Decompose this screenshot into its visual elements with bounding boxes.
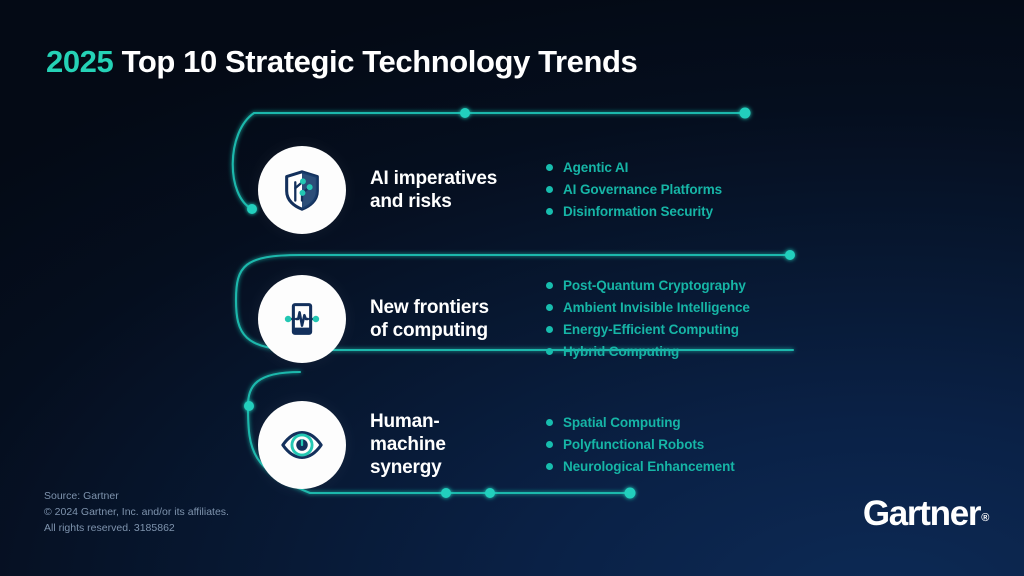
list-item[interactable]: Ambient Invisible Intelligence — [546, 297, 750, 319]
registered-mark-icon: ® — [981, 512, 988, 524]
shield-circuit-icon — [279, 167, 325, 213]
row-title-line: AI imperatives — [370, 167, 504, 190]
node-dot — [244, 401, 254, 411]
footer-attribution: Source: Gartner © 2024 Gartner, Inc. and… — [44, 489, 229, 537]
row-title-line: and risks — [370, 190, 504, 213]
list-item[interactable]: Energy-Efficient Computing — [546, 319, 750, 341]
node-dot — [785, 250, 795, 260]
list-item[interactable]: Disinformation Security — [546, 201, 722, 223]
trend-row-human-machine[interactable]: Human-machine synergy Spatial Computing … — [258, 396, 735, 494]
list-item[interactable]: Neurological Enhancement — [546, 456, 735, 478]
page-title: 2025 Top 10 Strategic Technology Trends — [46, 44, 637, 80]
list-item[interactable]: Agentic AI — [546, 157, 722, 179]
trend-row-new-frontiers[interactable]: New frontiers of computing Post-Quantum … — [258, 259, 750, 378]
trend-list: Post-Quantum Cryptography Ambient Invisi… — [546, 275, 750, 362]
title-text: Top 10 Strategic Technology Trends — [122, 44, 638, 79]
row-title: New frontiers of computing — [370, 296, 504, 342]
list-item[interactable]: AI Governance Platforms — [546, 179, 722, 201]
icon-circle — [258, 401, 346, 489]
infographic-canvas: 2025 Top 10 Strategic Technology Trends … — [0, 0, 1024, 576]
list-item[interactable]: Hybrid Computing — [546, 341, 750, 363]
title-year: 2025 — [46, 44, 113, 79]
gartner-logo-text: Gartner — [863, 494, 980, 533]
row-title: Human-machine synergy — [370, 410, 504, 480]
row-title-line: synergy — [370, 456, 504, 479]
row-title-line: of computing — [370, 319, 504, 342]
node-dot — [460, 108, 470, 118]
list-item[interactable]: Spatial Computing — [546, 412, 735, 434]
icon-circle — [258, 275, 346, 363]
row-title: AI imperatives and risks — [370, 167, 504, 213]
footer-rights: All rights reserved. 3185862 — [44, 521, 229, 537]
row-title-line: Human-machine — [370, 410, 504, 456]
gartner-logo: Gartner® — [863, 494, 988, 534]
footer-copyright: © 2024 Gartner, Inc. and/or its affiliat… — [44, 505, 229, 521]
list-item[interactable]: Post-Quantum Cryptography — [546, 275, 750, 297]
list-item[interactable]: Polyfunctional Robots — [546, 434, 735, 456]
trend-row-ai-imperatives[interactable]: AI imperatives and risks Agentic AI AI G… — [258, 141, 722, 239]
row-title-line: New frontiers — [370, 296, 504, 319]
eye-icon — [279, 422, 325, 468]
trend-list: Agentic AI AI Governance Platforms Disin… — [546, 157, 722, 223]
node-dot — [740, 108, 751, 119]
icon-circle — [258, 146, 346, 234]
chip-waveform-icon — [279, 296, 325, 342]
node-dot — [247, 204, 257, 214]
trend-list: Spatial Computing Polyfunctional Robots … — [546, 412, 735, 478]
footer-source: Source: Gartner — [44, 489, 229, 505]
